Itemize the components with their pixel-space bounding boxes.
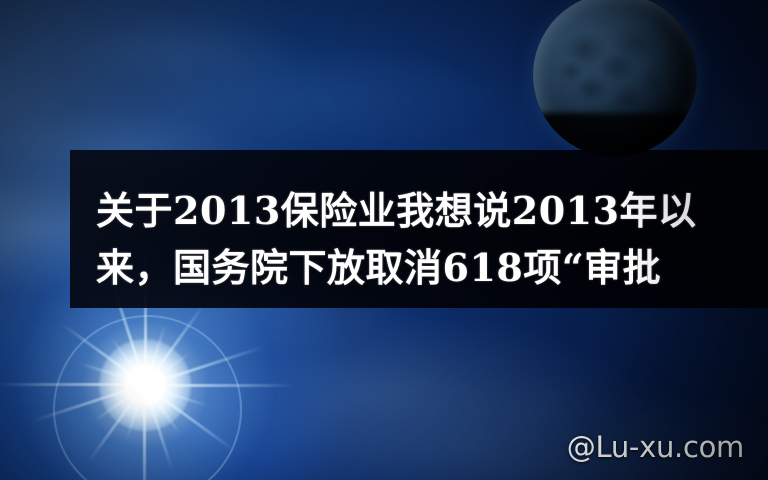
caption-text: 关于2013保险业我想说2013年以来，国务院下放取消618项“审批	[96, 182, 756, 296]
image-canvas: 关于2013保险业我想说2013年以来，国务院下放取消618项“审批 @Lu-x…	[0, 0, 768, 480]
flare-core	[99, 339, 191, 431]
moon	[533, 0, 697, 157]
watermark: @Lu-xu.com	[567, 430, 744, 464]
